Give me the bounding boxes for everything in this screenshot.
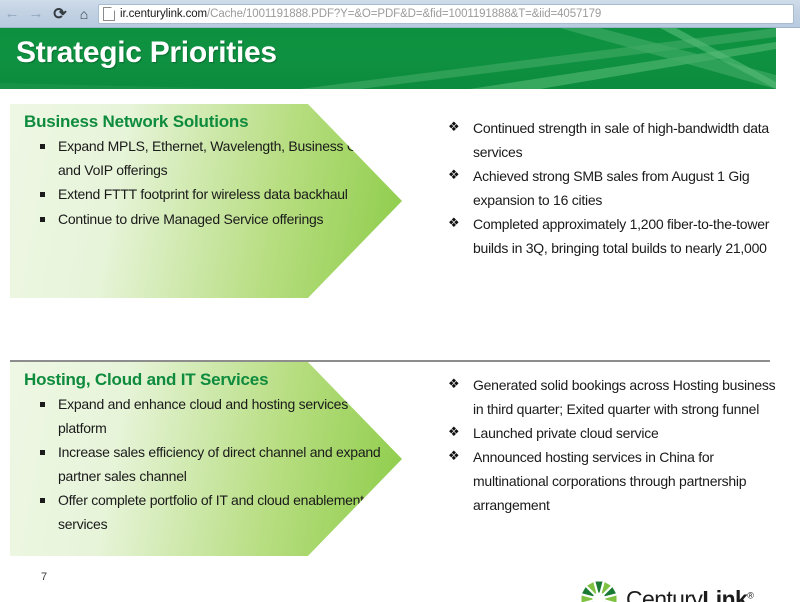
square-bullet-icon <box>40 402 45 407</box>
forward-arrow-icon[interactable]: → <box>24 3 48 25</box>
list-item-text: Expand and enhance cloud and hosting ser… <box>58 396 348 436</box>
list-item: Expand and enhance cloud and hosting ser… <box>24 393 392 440</box>
page-number: 7 <box>41 571 47 583</box>
list-item-text: Expand MPLS, Ethernet, Wavelength, Busin… <box>58 138 387 178</box>
centurylink-burst-logo-icon <box>580 580 618 602</box>
list-item-text: Completed approximately 1,200 fiber-to-t… <box>473 216 769 256</box>
centurylink-logo: CenturyLink® <box>580 580 753 602</box>
square-bullet-icon <box>40 450 45 455</box>
slide-banner: Strategic Priorities <box>0 28 776 89</box>
arrow-box-hosting-cloud-it-services: Hosting, Cloud and IT Services Expand an… <box>10 362 402 556</box>
section-bullet-list: Expand and enhance cloud and hosting ser… <box>24 393 392 536</box>
screenshot-root: ← → ⟳ ⌂ ir.centurylink.com/Cache/1001191… <box>0 0 800 602</box>
url-host: ir.centurylink.com <box>120 8 207 20</box>
list-item-text: Launched private cloud service <box>473 425 659 441</box>
list-item: Expand MPLS, Ethernet, Wavelength, Busin… <box>24 135 392 182</box>
list-item-text: Extend FTTT footprint for wireless data … <box>58 186 348 202</box>
square-bullet-icon <box>40 498 45 503</box>
diamond-bullet-icon: ❖ <box>448 445 459 467</box>
section-bullet-list: Expand MPLS, Ethernet, Wavelength, Busin… <box>24 135 392 231</box>
list-item-text: Offer complete portfolio of IT and cloud… <box>58 492 364 532</box>
list-item-text: Announced hosting services in China for … <box>473 449 746 513</box>
list-item: ❖Achieved strong SMB sales from August 1… <box>448 164 778 212</box>
section-heading: Hosting, Cloud and IT Services <box>24 370 392 390</box>
highlight-list: ❖Continued strength in sale of high-band… <box>448 116 778 260</box>
list-item: Extend FTTT footprint for wireless data … <box>24 183 392 207</box>
address-bar[interactable]: ir.centurylink.com/Cache/1001191888.PDF?… <box>98 4 794 24</box>
list-item-text: Continue to drive Managed Service offeri… <box>58 211 323 227</box>
url-path: /Cache/1001191888.PDF?Y=&O=PDF&D=&fid=10… <box>207 8 601 20</box>
diamond-bullet-icon: ❖ <box>448 164 459 186</box>
list-item: Offer complete portfolio of IT and cloud… <box>24 489 392 536</box>
pdf-slide: Strategic Priorities Business Network So… <box>0 28 800 602</box>
list-item: ❖Announced hosting services in China for… <box>448 445 778 517</box>
url-text: ir.centurylink.com/Cache/1001191888.PDF?… <box>120 8 601 20</box>
diamond-bullet-icon: ❖ <box>448 373 459 395</box>
logo-word-link: Link <box>702 586 747 602</box>
section-divider <box>10 360 770 362</box>
page-title: Strategic Priorities <box>16 36 277 70</box>
list-item: ❖Completed approximately 1,200 fiber-to-… <box>448 212 778 260</box>
browser-toolbar: ← → ⟳ ⌂ ir.centurylink.com/Cache/1001191… <box>0 0 800 28</box>
list-item: ❖Launched private cloud service <box>448 421 778 445</box>
diamond-bullet-icon: ❖ <box>448 421 459 443</box>
section-heading: Business Network Solutions <box>24 112 392 132</box>
highlights-hosting-cloud-it-services: ❖Generated solid bookings across Hosting… <box>448 373 778 517</box>
highlights-business-network-solutions: ❖Continued strength in sale of high-band… <box>448 116 778 260</box>
square-bullet-icon <box>40 144 45 149</box>
list-item: Increase sales efficiency of direct chan… <box>24 441 392 488</box>
arrow-box-business-network-solutions: Business Network Solutions Expand MPLS, … <box>10 104 402 298</box>
list-item-text: Increase sales efficiency of direct chan… <box>58 444 380 484</box>
reload-icon[interactable]: ⟳ <box>48 3 72 25</box>
page-document-icon <box>103 7 115 21</box>
back-arrow-icon[interactable]: ← <box>0 3 24 25</box>
square-bullet-icon <box>40 217 45 222</box>
square-bullet-icon <box>40 192 45 197</box>
list-item: ❖Continued strength in sale of high-band… <box>448 116 778 164</box>
list-item-text: Continued strength in sale of high-bandw… <box>473 120 769 160</box>
centurylink-wordmark: CenturyLink® <box>626 586 753 602</box>
highlight-list: ❖Generated solid bookings across Hosting… <box>448 373 778 517</box>
diamond-bullet-icon: ❖ <box>448 116 459 138</box>
home-icon[interactable]: ⌂ <box>72 3 96 25</box>
registered-mark: ® <box>747 590 753 600</box>
logo-word-century: Century <box>626 586 702 602</box>
diamond-bullet-icon: ❖ <box>448 212 459 234</box>
list-item-text: Achieved strong SMB sales from August 1 … <box>473 168 749 208</box>
list-item: ❖Generated solid bookings across Hosting… <box>448 373 778 421</box>
list-item: Continue to drive Managed Service offeri… <box>24 208 392 232</box>
list-item-text: Generated solid bookings across Hosting … <box>473 377 775 417</box>
